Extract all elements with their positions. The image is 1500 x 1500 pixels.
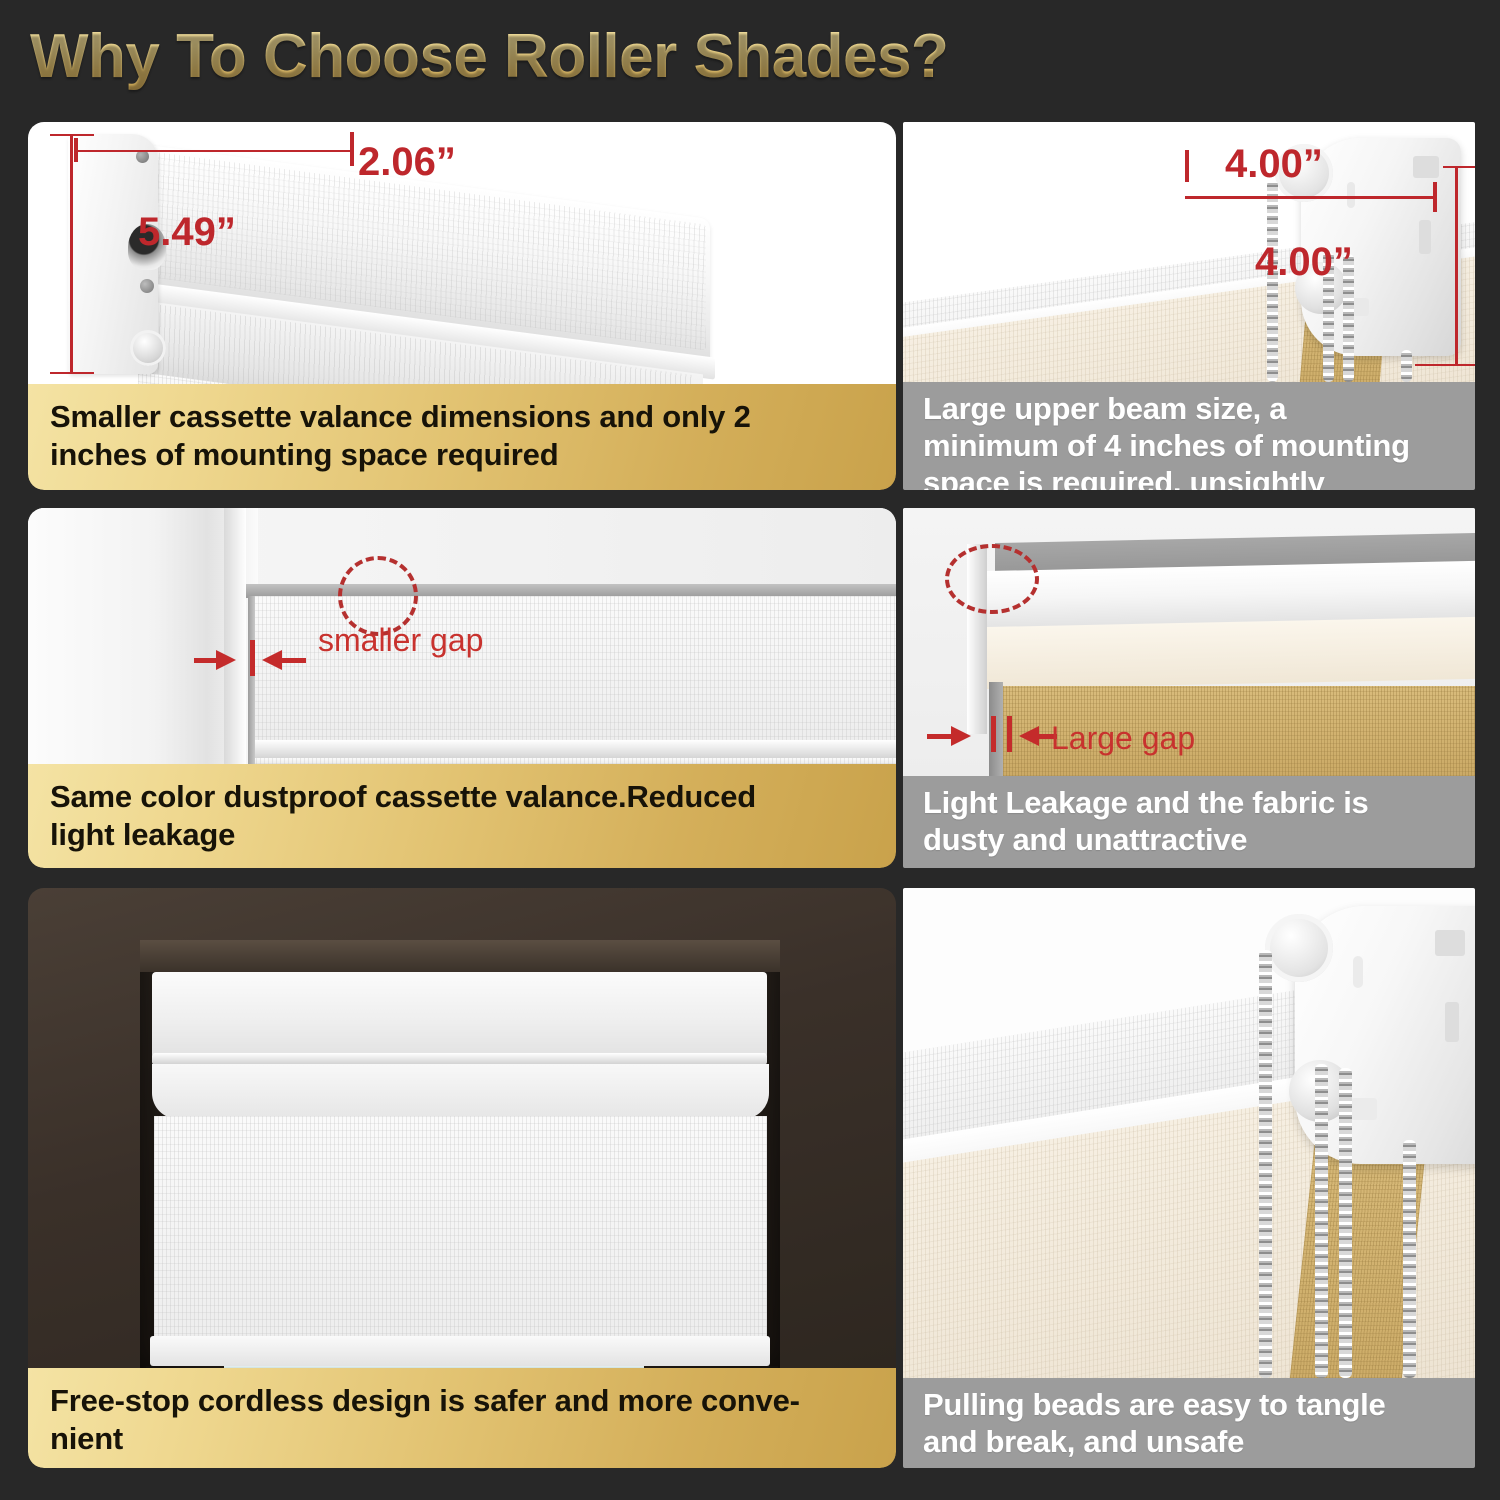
cassette-valance (152, 972, 767, 1058)
width-dimension-label: 4.00” (1225, 142, 1323, 187)
caption-line: inches of mounting space required (50, 436, 874, 474)
screw-icon (140, 279, 154, 293)
photo-bead-chain (903, 888, 1475, 1378)
card-pro-cassette-size: 2.06” 5.49” Smaller cassette valance dim… (28, 122, 896, 490)
gap-arrow-stem (194, 658, 218, 663)
bead-chain[interactable] (1401, 350, 1412, 382)
caption-line: and break, and unsafe (923, 1423, 1457, 1460)
photo-large-beam: 4.00” 4.00” (903, 122, 1475, 382)
gap-marker (991, 716, 996, 752)
mid-rail (248, 740, 896, 758)
width-dimension-tick (1185, 150, 1189, 182)
card-con-beam-size: 4.00” 4.00” Large upper beam size, a min… (903, 122, 1475, 490)
gap-callout-label: smaller gap (318, 622, 483, 659)
caption-line: dusty and unattractive (923, 821, 1457, 858)
caption-line: space is required, unsightly (923, 464, 1457, 490)
card-pro-cordless-design: Free-stop cordless design is safer and m… (28, 888, 896, 1468)
bottom-rail[interactable] (150, 1336, 770, 1366)
gap-arrow-stem (927, 734, 953, 739)
arrow-left-icon (1019, 726, 1039, 746)
bracket-slot (1353, 956, 1363, 988)
bracket-slot (1419, 220, 1431, 254)
width-dimension-tick (74, 138, 78, 162)
height-dimension-line (70, 134, 73, 374)
caption-line: Free-stop cordless design is safer and m… (50, 1382, 874, 1420)
caption-line: Smaller cassette valance dimensions and … (50, 398, 874, 436)
bracket-slot (1445, 1002, 1459, 1042)
bead-chain[interactable] (1339, 1068, 1352, 1378)
card-pro-dustproof-valance: smaller gap Same color dustproof cassett… (28, 508, 896, 868)
comparison-grid: 2.06” 5.49” Smaller cassette valance dim… (0, 0, 1500, 1500)
height-dimension-tick (50, 372, 94, 374)
shade-fabric-upper (981, 617, 1475, 689)
arrow-right-icon (951, 726, 971, 746)
height-dimension-label: 5.49” (138, 210, 236, 255)
arrow-right-icon (216, 650, 236, 670)
width-dimension-label: 2.06” (358, 140, 456, 185)
bracket-slot (1413, 156, 1439, 178)
photo-large-gap: Large gap (903, 508, 1475, 776)
mounting-pin-icon (130, 330, 166, 366)
height-dimension-tick (1415, 364, 1475, 366)
caption-line: minimum of 4 inches of mounting (923, 427, 1457, 464)
width-dimension-tick (350, 132, 354, 166)
caption-con-pulling-beads: Pulling beads are easy to tangle and bre… (903, 1378, 1475, 1468)
caption-con-beam-size: Large upper beam size, a minimum of 4 in… (903, 382, 1475, 490)
height-dimension-line (1455, 166, 1458, 366)
gap-callout-label: Large gap (1051, 720, 1195, 757)
caption-line: Large upper beam size, a (923, 390, 1457, 427)
roller-end-cap (1265, 914, 1333, 982)
photo-cassette-valance: 2.06” 5.49” (28, 122, 896, 384)
arrow-left-icon (262, 650, 282, 670)
caption-line: Pulling beads are easy to tangle (923, 1386, 1457, 1423)
caption-line: Light Leakage and the fabric is (923, 784, 1457, 821)
height-dimension-tick (1443, 166, 1475, 168)
bracket-slot (1435, 930, 1465, 956)
photo-smaller-gap: smaller gap (28, 508, 896, 764)
width-dimension-line (74, 150, 354, 152)
caption-pro-dustproof-valance: Same color dustproof cassette valance.Re… (28, 764, 896, 868)
width-dimension-tick (1433, 182, 1437, 212)
caption-pro-cordless-design: Free-stop cordless design is safer and m… (28, 1368, 896, 1468)
caption-line: light leakage (50, 816, 874, 854)
caption-con-light-leakage: Light Leakage and the fabric is dusty an… (903, 776, 1475, 868)
card-con-light-leakage: Large gap Light Leakage and the fabric i… (903, 508, 1475, 868)
height-dimension-label: 4.00” (1255, 240, 1353, 285)
caption-line: Same color dustproof cassette valance.Re… (50, 778, 874, 816)
shade-fabric (154, 1116, 767, 1341)
gap-arrow-stem (282, 658, 306, 663)
highlight-circle-icon (945, 544, 1039, 614)
gap-marker (250, 640, 255, 676)
height-dimension-tick (50, 134, 94, 136)
width-dimension-line (1185, 196, 1437, 199)
room-wall (28, 888, 896, 1368)
gap-edge (248, 596, 255, 764)
bead-chain[interactable] (1403, 1140, 1416, 1378)
roller-tube (152, 1064, 769, 1119)
card-con-pulling-beads: Pulling beads are easy to tangle and bre… (903, 888, 1475, 1468)
caption-line: nient (50, 1420, 874, 1458)
bead-chain[interactable] (1259, 950, 1272, 1378)
caption-pro-cassette-size: Smaller cassette valance dimensions and … (28, 384, 896, 490)
bracket-slot (1347, 182, 1355, 208)
bracket-slot (1351, 1098, 1377, 1120)
window-frame-edge (224, 508, 246, 764)
photo-cordless-window (28, 888, 896, 1368)
gap-marker (1007, 716, 1012, 752)
window-casing (140, 940, 780, 972)
bead-chain[interactable] (1315, 1064, 1328, 1378)
